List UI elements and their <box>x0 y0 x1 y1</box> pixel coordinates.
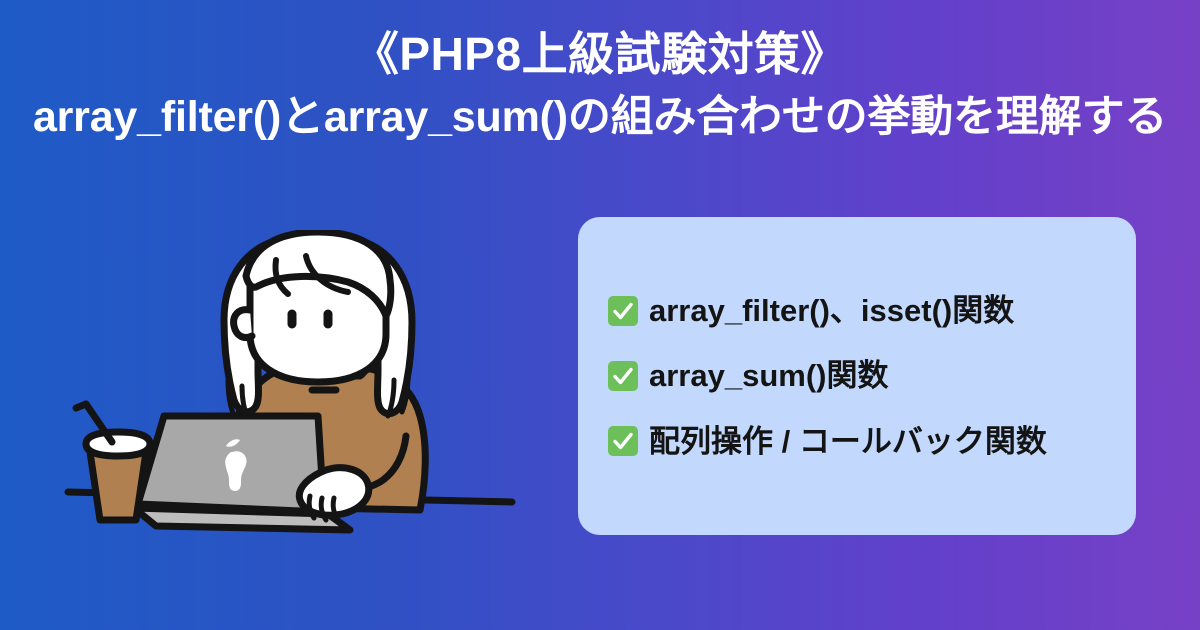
checklist-card: array_filter()、isset()関数 array_sum()関数 配… <box>578 217 1136 535</box>
checklist-item: array_sum()関数 <box>608 357 1136 394</box>
person-at-laptop-illustration <box>60 230 520 540</box>
check-mark-button-icon <box>608 296 638 326</box>
checklist-item-label: 配列操作 / コールバック関数 <box>649 423 1047 460</box>
straw-bend <box>76 404 86 408</box>
checklist-item-label: array_filter()、isset()関数 <box>649 292 1014 329</box>
title-line-1: 《PHP8上級試験対策》 <box>0 26 1200 84</box>
coffee-cup <box>90 452 146 520</box>
check-mark-button-icon <box>608 426 638 456</box>
banner: 《PHP8上級試験対策》 array_filter()とarray_sum()の… <box>0 0 1200 630</box>
checklist-item: 配列操作 / コールバック関数 <box>608 423 1136 460</box>
cup-lid <box>86 432 150 456</box>
title-line-2: array_filter()とarray_sum()の組み合わせの挙動を理解する <box>0 90 1200 146</box>
checklist-item: array_filter()、isset()関数 <box>608 292 1136 329</box>
check-mark-button-icon <box>608 361 638 391</box>
page-title: 《PHP8上級試験対策》 array_filter()とarray_sum()の… <box>0 26 1200 145</box>
checklist-item-label: array_sum()関数 <box>649 357 888 394</box>
ear <box>234 310 252 338</box>
